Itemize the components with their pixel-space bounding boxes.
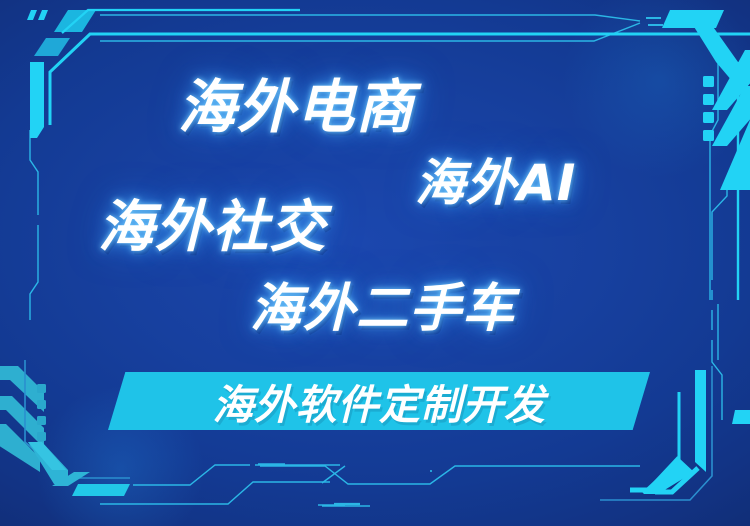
headline-overseas-used-cars: 海外二手车 [250,283,515,335]
cta-banner[interactable]: 海外软件定制开发 [108,372,650,430]
poster-canvas: 海外电商 海外AI 海外社交 海外二手车 海外软件定制开发 [0,0,750,526]
cta-banner-label: 海外软件定制开发 [108,372,650,430]
headline-stack: 海外电商 海外AI 海外社交 海外二手车 海外软件定制开发 [0,0,750,526]
headline-overseas-ai: 海外AI [415,158,576,208]
headline-overseas-ecommerce: 海外电商 [178,78,415,136]
headline-overseas-social: 海外社交 [98,200,326,256]
